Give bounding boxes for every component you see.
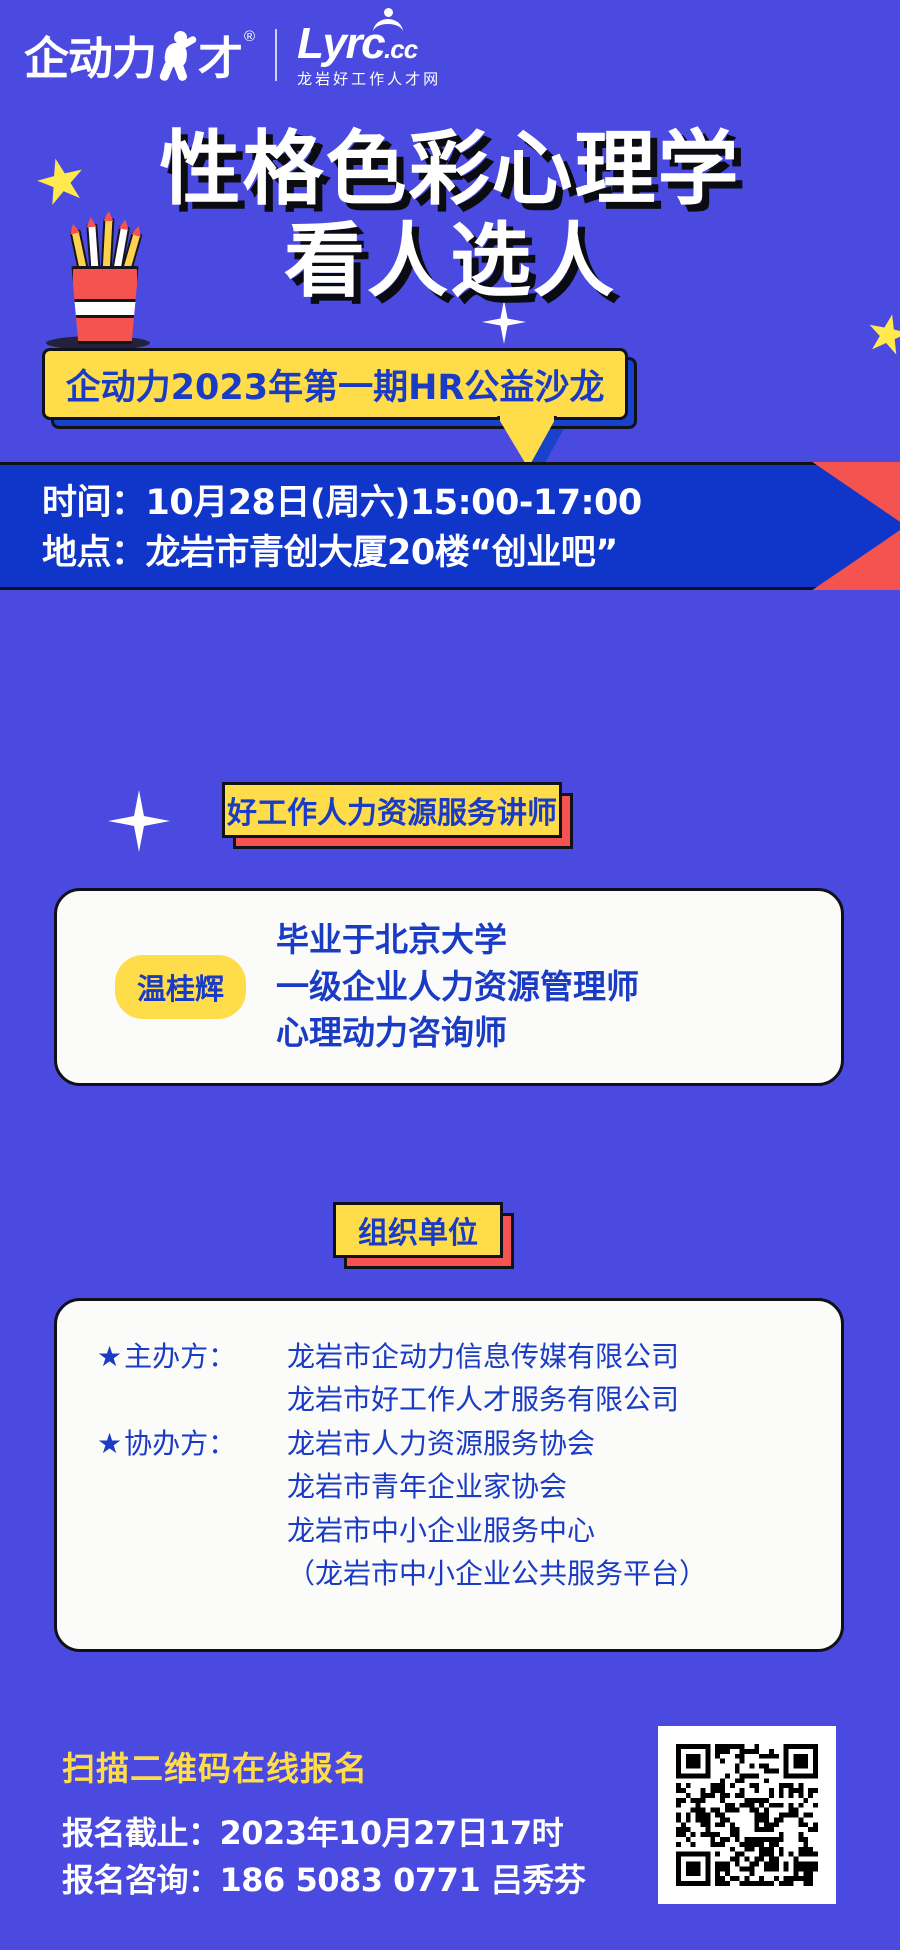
speaker-section-badge: 好工作人力资源服务讲师 [222, 782, 562, 838]
organizer-row: ★主办方： 龙岩市企动力信息传媒有限公司 [97, 1335, 707, 1378]
organizer-name: （龙岩市中小企业公共服务平台） [287, 1552, 707, 1595]
speaker-credential: 心理动力咨询师 [276, 1010, 639, 1057]
speaker-credentials: 毕业于北京大学 一级企业人力资源管理师 心理动力咨询师 [276, 917, 639, 1058]
qidongli-logo-suffix: 才 [198, 36, 242, 81]
organizer-badge-face: 组织单位 [333, 1202, 503, 1258]
qidongli-logo-text: 企动力 [24, 36, 156, 81]
organizer-name: 龙岩市企动力信息传媒有限公司 [287, 1335, 679, 1378]
hero-title-line-1: 性格色彩心理学 [0, 128, 900, 214]
speaker-badge-face: 好工作人力资源服务讲师 [222, 782, 562, 838]
hero-title: 性格色彩心理学 看人选人 [0, 128, 900, 306]
organizer-section-title: 组织单位 [358, 1208, 478, 1252]
poster-root: 企动力 才 ® Lyrc.cc 龙岩好工作人才网 [0, 0, 900, 1950]
lyrc-logo: Lyrc.cc 龙岩好工作人才网 [297, 22, 441, 89]
speaker-name-badge: 温桂辉 [115, 955, 246, 1019]
star-icon: ★ [97, 1335, 122, 1378]
lyrc-logo-subtitle: 龙岩好工作人才网 [297, 68, 441, 89]
qr-code-image [676, 1744, 818, 1886]
organizer-role: 主办方： [124, 1335, 236, 1378]
lyrc-logo-wordmark: Lyrc [297, 19, 384, 68]
qidongli-logo: 企动力 才 ® [24, 29, 255, 81]
event-time: 时间：10月28日(周六)15:00-17:00 [42, 479, 642, 529]
yellow-star-icon-right [864, 310, 900, 357]
footer-section: 扫描二维码在线报名 报名截止：2023年10月27日17时 报名咨询：186 5… [0, 1680, 900, 1950]
organizer-name: 龙岩市中小企业服务中心 [287, 1509, 595, 1552]
registration-deadline: 报名截止：2023年10月27日17时 [62, 1810, 585, 1857]
person-arms-icon [373, 8, 403, 34]
speaker-section-title: 好工作人力资源服务讲师 [227, 788, 557, 832]
organizer-row: （龙岩市中小企业公共服务平台） [97, 1552, 707, 1595]
hero-badge: 企动力2023年第一期HR公益沙龙 [42, 348, 628, 420]
event-info-bar: 时间：10月28日(周六)15:00-17:00 地点：龙岩市青创大厦20楼“创… [0, 462, 900, 590]
organizer-list: ★主办方： 龙岩市企动力信息传媒有限公司 龙岩市好工作人才服务有限公司 ★协办方… [97, 1335, 707, 1595]
logo-divider [275, 29, 277, 81]
event-place: 地点：龙岩市青创大厦20楼“创业吧” [42, 529, 642, 579]
organizer-row: 龙岩市青年企业家协会 [97, 1465, 707, 1508]
hero-badge-label: 企动力2023年第一期HR公益沙龙 [66, 359, 605, 410]
speaker-credential: 毕业于北京大学 [276, 917, 639, 964]
organizer-section-badge: 组织单位 [333, 1202, 503, 1258]
organizer-row: 龙岩市中小企业服务中心 [97, 1509, 707, 1552]
star-icon: ★ [97, 1422, 122, 1465]
organizer-row: ★协办方： 龙岩市人力资源服务协会 [97, 1422, 707, 1465]
hero-title-line-2: 看人选人 [0, 220, 900, 306]
organizer-card: ★主办方： 龙岩市企动力信息传媒有限公司 龙岩市好工作人才服务有限公司 ★协办方… [54, 1298, 844, 1652]
organizer-role: 协办方： [124, 1422, 236, 1465]
registration-contact: 报名咨询：186 5083 0771 吕秀芬 [62, 1857, 585, 1904]
running-person-icon [157, 29, 197, 81]
hero-badge-face: 企动力2023年第一期HR公益沙龙 [42, 348, 628, 420]
organizer-row: 龙岩市好工作人才服务有限公司 [97, 1378, 707, 1421]
registered-mark-icon: ® [244, 29, 255, 44]
organizer-name: 龙岩市好工作人才服务有限公司 [287, 1378, 679, 1421]
speaker-card: 温桂辉 毕业于北京大学 一级企业人力资源管理师 心理动力咨询师 [54, 888, 844, 1086]
speaker-credential: 一级企业人力资源管理师 [276, 964, 639, 1011]
organizer-name: 龙岩市青年企业家协会 [287, 1465, 567, 1508]
brand-header: 企动力 才 ® Lyrc.cc 龙岩好工作人才网 [24, 22, 441, 88]
qr-code[interactable] [658, 1726, 836, 1904]
lyrc-logo-tld: .cc [384, 34, 417, 64]
sparkle-icon-speaker [108, 790, 170, 852]
scan-heading: 扫描二维码在线报名 [62, 1742, 368, 1790]
organizer-name: 龙岩市人力资源服务协会 [287, 1422, 595, 1465]
